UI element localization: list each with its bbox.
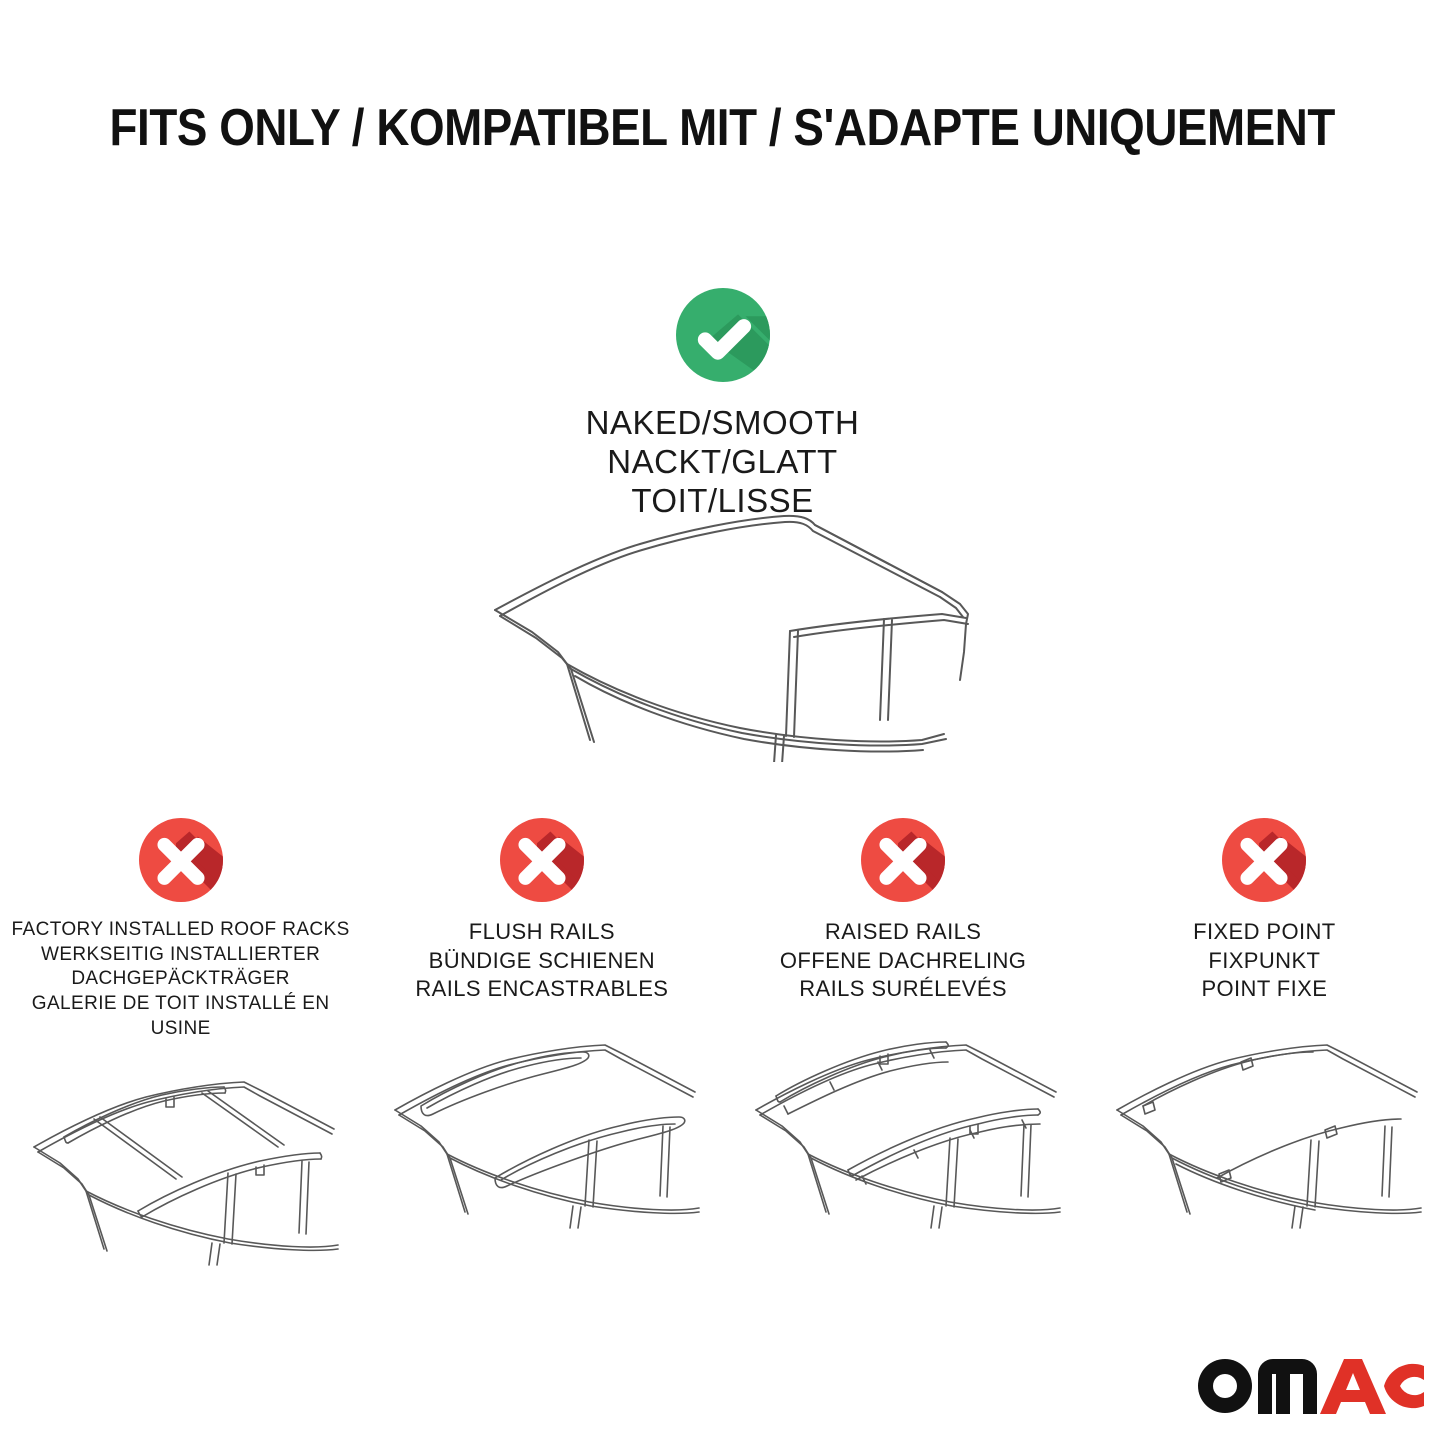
car-roof-factory-installed-racks-illustration bbox=[0, 1041, 361, 1266]
cross-icon bbox=[1222, 818, 1306, 902]
compatible-label-de: NACKT/GLATT bbox=[0, 443, 1445, 482]
incompatible-item-flush-rails: FLUSH RAILS BÜNDIGE SCHIENEN RAILS ENCAS… bbox=[361, 818, 722, 1266]
incompatible-labels: RAISED RAILS OFFENE DACHRELING RAILS SUR… bbox=[723, 918, 1084, 1004]
incompatible-label-en: FLUSH RAILS bbox=[361, 918, 722, 947]
incompatible-label-de: FIXPUNKT bbox=[1084, 947, 1445, 976]
incompatible-label-en: FIXED POINT bbox=[1084, 918, 1445, 947]
car-roof-flush-rails-illustration bbox=[361, 1004, 722, 1229]
cross-icon-glyph bbox=[500, 818, 584, 902]
incompatible-item-fixed-point: FIXED POINT FIXPUNKT POINT FIXE bbox=[1084, 818, 1445, 1266]
compatible-label-en: NAKED/SMOOTH bbox=[0, 404, 1445, 443]
incompatible-label-fr: POINT FIXE bbox=[1084, 975, 1445, 1004]
incompatible-label-fr: RAILS SURÉLEVÉS bbox=[723, 975, 1084, 1004]
incompatible-labels: FIXED POINT FIXPUNKT POINT FIXE bbox=[1084, 918, 1445, 1004]
incompatible-labels: FLUSH RAILS BÜNDIGE SCHIENEN RAILS ENCAS… bbox=[361, 918, 722, 1004]
omac-logo: OMAC bbox=[1192, 1348, 1424, 1416]
cross-icon bbox=[139, 818, 223, 902]
cross-icon bbox=[500, 818, 584, 902]
car-roof-fixed-point-illustration bbox=[1084, 1004, 1445, 1229]
omac-logo-text: OMAC bbox=[1424, 1348, 1425, 1349]
page-title-text: FITS ONLY / KOMPATIBEL MIT / S'ADAPTE UN… bbox=[110, 98, 1335, 158]
incompatible-label-fr: GALERIE DE TOIT INSTALLÉ EN USINE bbox=[0, 992, 361, 1041]
incompatible-label-de: OFFENE DACHRELING bbox=[723, 947, 1084, 976]
incompatible-labels: FACTORY INSTALLED ROOF RACKS WERKSEITIG … bbox=[0, 918, 361, 1041]
incompatible-label-de: BÜNDIGE SCHIENEN bbox=[361, 947, 722, 976]
cross-icon-glyph bbox=[139, 818, 223, 902]
page-title: FITS ONLY / KOMPATIBEL MIT / S'ADAPTE UN… bbox=[0, 98, 1445, 158]
incompatible-item-raised-rails: RAISED RAILS OFFENE DACHRELING RAILS SUR… bbox=[723, 818, 1084, 1266]
compatible-section: NAKED/SMOOTH NACKT/GLATT TOIT/LISSE bbox=[0, 288, 1445, 521]
incompatible-label-de-2: DACHGEPÄCKTRÄGER bbox=[0, 967, 361, 992]
car-roof-raised-rails-illustration bbox=[723, 1004, 1084, 1229]
incompatible-label-de-1: WERKSEITIG INSTALLIERTER bbox=[0, 943, 361, 968]
car-roof-naked-smooth-illustration bbox=[472, 492, 992, 762]
incompatible-label-en: RAISED RAILS bbox=[723, 918, 1084, 947]
incompatible-label-en: FACTORY INSTALLED ROOF RACKS bbox=[0, 918, 361, 943]
incompatible-label-fr: RAILS ENCASTRABLES bbox=[361, 975, 722, 1004]
check-icon bbox=[676, 288, 770, 382]
cross-icon bbox=[861, 818, 945, 902]
check-icon-glyph bbox=[676, 288, 770, 382]
cross-icon-glyph bbox=[861, 818, 945, 902]
incompatible-item-factory-installed-roof-racks: FACTORY INSTALLED ROOF RACKS WERKSEITIG … bbox=[0, 818, 361, 1266]
cross-icon-glyph bbox=[1222, 818, 1306, 902]
incompatible-section: FACTORY INSTALLED ROOF RACKS WERKSEITIG … bbox=[0, 818, 1445, 1266]
